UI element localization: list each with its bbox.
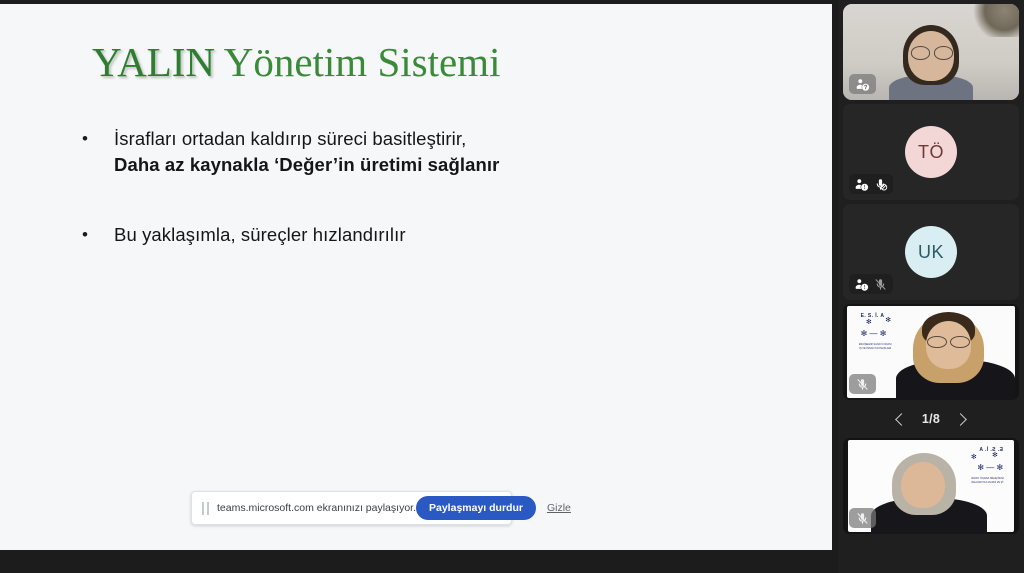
bullet-line-1: İsrafları ortadan kaldırıp süreci basitl… bbox=[114, 128, 466, 149]
poster-logo-icon: ✻ bbox=[992, 452, 998, 459]
person-alert-icon bbox=[854, 177, 869, 192]
avatar-initials: TÖ bbox=[918, 142, 944, 163]
stop-sharing-button[interactable]: Paylaşmayı durdur bbox=[416, 496, 536, 520]
bullet-marker: • bbox=[78, 126, 114, 178]
microphone-muted-icon bbox=[873, 177, 888, 192]
bullet-marker: • bbox=[78, 222, 114, 248]
share-status-text: teams.microsoft.com ekranınızı paylaşıyo… bbox=[217, 502, 416, 514]
bullet-line-2: Daha az kaynakla ‘Değer’in üretimi sağla… bbox=[114, 152, 499, 178]
poster-logo-icon: ✻ bbox=[866, 319, 872, 326]
participant-tile[interactable]: TÖ bbox=[843, 104, 1019, 200]
tile-badges bbox=[849, 174, 893, 194]
poster-logo-icon: ✻ bbox=[971, 454, 977, 461]
person-alert-icon bbox=[854, 277, 869, 292]
tile-badges bbox=[849, 374, 876, 394]
meeting-window: YALIN Yönetim Sistemi • İsrafları ortada… bbox=[0, 0, 1024, 573]
microphone-muted-icon bbox=[855, 377, 870, 392]
drag-handle-icon[interactable] bbox=[201, 502, 211, 515]
presentation-slide: YALIN Yönetim Sistemi • İsrafları ortada… bbox=[0, 4, 832, 550]
poster-logo-icon: ✻ — ✻ bbox=[861, 330, 887, 338]
participant-rail: TÖ UK bbox=[838, 0, 1024, 573]
hide-link[interactable]: Gizle bbox=[547, 502, 571, 514]
title-highlight: YALIN bbox=[92, 39, 215, 85]
list-item: • Bu yaklaşımla, süreçler hızlandırılır bbox=[78, 222, 718, 248]
microphone-muted-icon bbox=[855, 511, 870, 526]
slide-bullet-list: • İsrafları ortadan kaldırıp süreci basi… bbox=[78, 126, 718, 274]
shared-screen-stage: YALIN Yönetim Sistemi • İsrafları ortada… bbox=[0, 0, 838, 573]
page-indicator: 1/8 bbox=[922, 412, 940, 426]
avatar-initials: UK bbox=[918, 242, 944, 263]
avatar: TÖ bbox=[905, 126, 957, 178]
poster-subtitle: ESKİŞEHİR SANAYİ ODASIİŞ VE İNSAN KAYNAK… bbox=[971, 477, 1004, 483]
poster-logo-icon: ✻ bbox=[885, 317, 891, 324]
poster-logo-text: E. S. İ. A bbox=[861, 313, 885, 319]
screen-share-bar: teams.microsoft.com ekranınızı paylaşıyo… bbox=[191, 491, 512, 525]
poster-logo-icon: ✻ — ✻ bbox=[977, 464, 1003, 472]
tile-badges bbox=[849, 274, 893, 294]
participant-tile[interactable]: ✻ ✻ E. S. İ. A ✻ — ✻ ESKİŞEHİR SANAYİ OD… bbox=[843, 304, 1019, 400]
bullet-line-1: Bu yaklaşımla, süreçler hızlandırılır bbox=[114, 224, 406, 245]
participant-tile[interactable]: E. S. İ. A ✻ ✻ ✻ — ✻ ESKİŞEHİR SANAYİ OD… bbox=[843, 438, 1019, 534]
person-question-icon bbox=[855, 77, 870, 92]
bullet-text: İsrafları ortadan kaldırıp süreci basitl… bbox=[114, 126, 499, 178]
poster-subtitle: ESKİŞEHİR SANAYİ ODASIİŞ VE İNSAN KAYNAK… bbox=[859, 343, 892, 349]
list-item: • İsrafları ortadan kaldırıp süreci basi… bbox=[78, 126, 718, 178]
participant-tile[interactable]: UK bbox=[843, 204, 1019, 300]
page-title: YALIN Yönetim Sistemi bbox=[92, 42, 500, 83]
tile-badges bbox=[849, 508, 876, 528]
tile-badges bbox=[849, 74, 876, 94]
participant-tile[interactable] bbox=[843, 4, 1019, 100]
roster-pagination: 1/8 bbox=[843, 404, 1019, 434]
chevron-left-icon[interactable] bbox=[895, 413, 908, 426]
chevron-right-icon[interactable] bbox=[954, 413, 967, 426]
bullet-text: Bu yaklaşımla, süreçler hızlandırılır bbox=[114, 222, 406, 248]
title-rest: Yönetim Sistemi bbox=[215, 39, 500, 85]
avatar: UK bbox=[905, 226, 957, 278]
microphone-muted-icon bbox=[873, 277, 888, 292]
